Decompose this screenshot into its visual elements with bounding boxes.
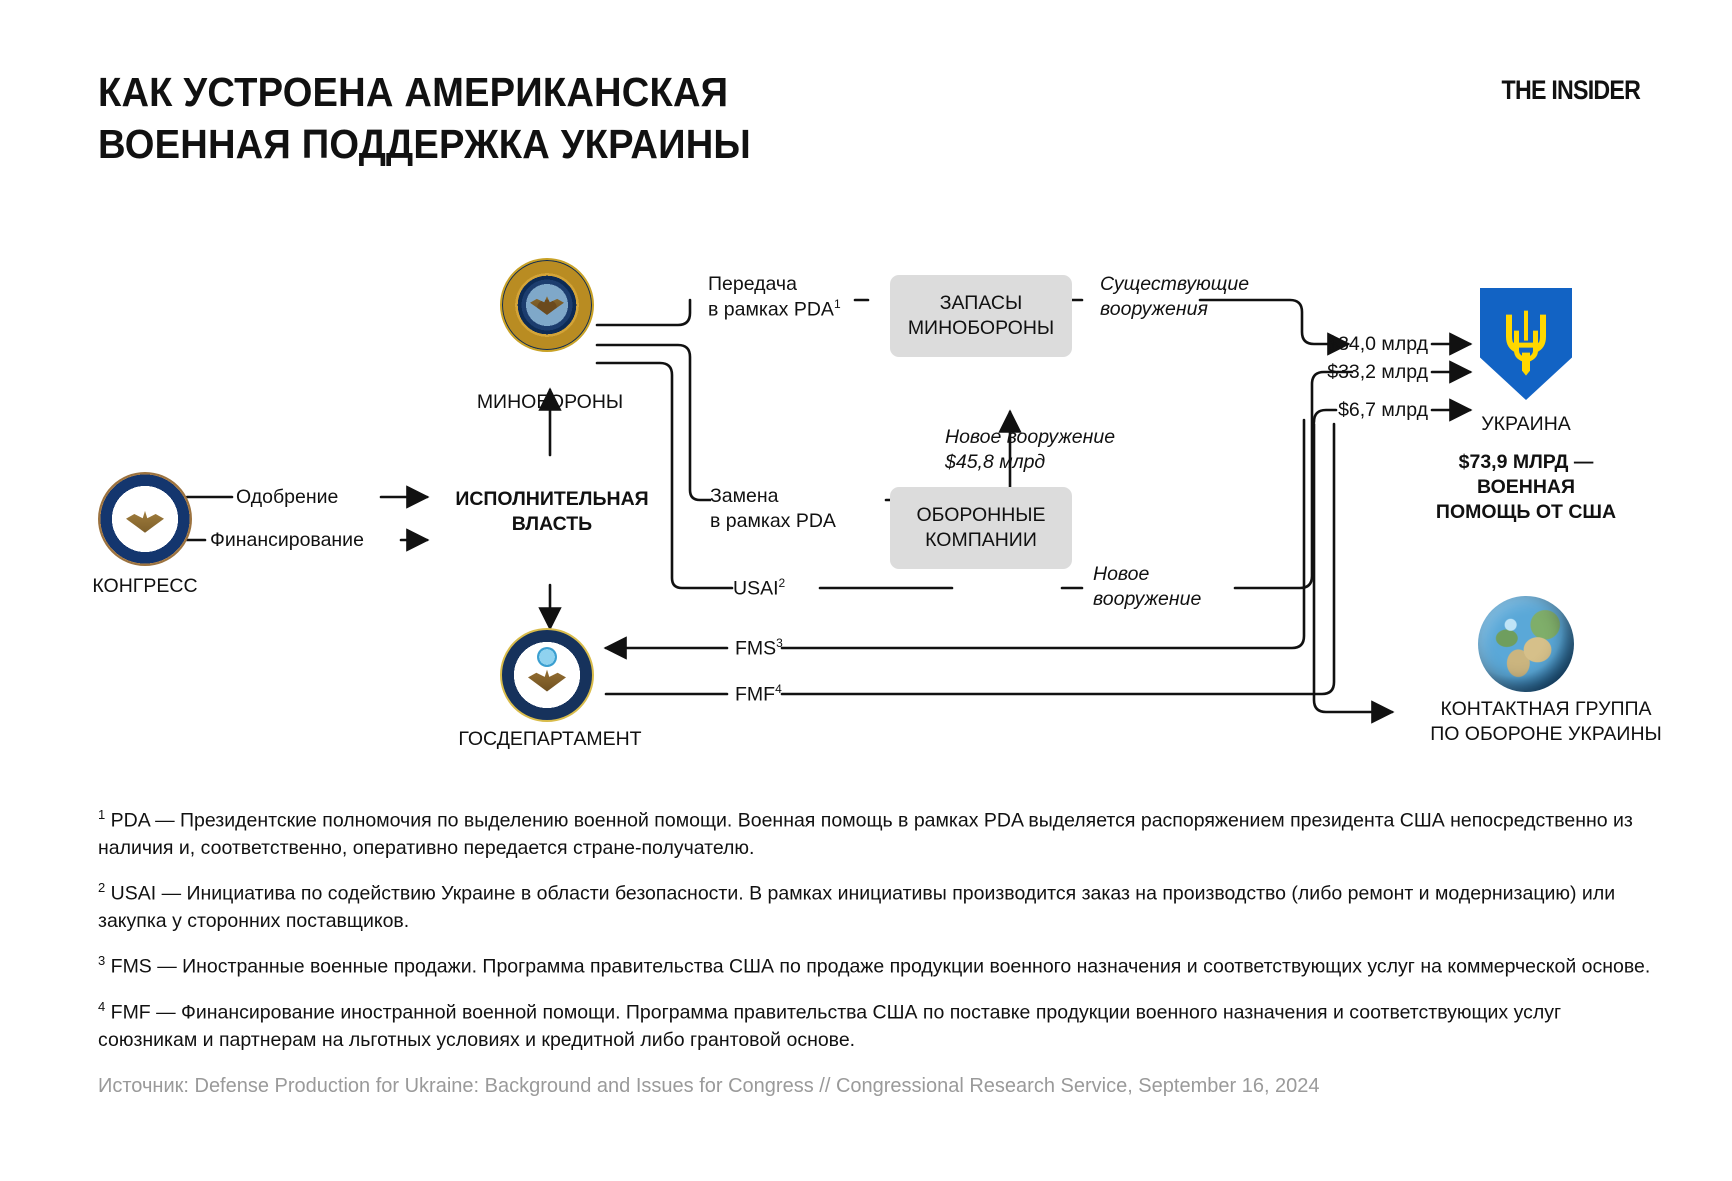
ukraine-total-aid: $73,9 МЛРД — ВОЕННАЯ ПОМОЩЬ ОТ США [1396, 450, 1656, 525]
edge-label-new-weapons-value: Новое вооружение $45,8 млрд [945, 425, 1115, 475]
edge-label-existing-weapons: Существующие вооружения [1100, 272, 1249, 322]
edge-label-fmf-text: FMF [735, 684, 775, 706]
edge-label-fms: FMS3 [735, 636, 783, 661]
node-stockpiles-box: ЗАПАСЫ МИНОБОРОНЫ [890, 275, 1072, 357]
ukraine-coat-of-arms-icon [1480, 288, 1572, 400]
node-label-contact-group: КОНТАКТНАЯ ГРУППА ПО ОБОРОНЕ УКРАИНЫ [1396, 697, 1696, 747]
node-executive-power: ИСПОЛНИТЕЛЬНАЯ ВЛАСТЬ [432, 487, 672, 537]
amount-label-1: $34,0 млрд [1212, 332, 1428, 357]
edge-label-fms-text: FMS [735, 638, 776, 660]
footnote-4-text: FMF — Финансирование иностранной военной… [98, 1001, 1561, 1050]
edge-label-fmf-sup: 4 [775, 682, 782, 696]
edge-label-pda-transfer-text: Передача в рамках PDA [708, 273, 834, 320]
flow-diagram: МИНОБОРОНЫ КОНГРЕСС ГОСДЕПАРТАМЕНТ ИСПОЛ… [0, 0, 1732, 790]
node-label-ukraine: УКРАИНА [1406, 412, 1646, 437]
node-defense-companies-box: ОБОРОННЫЕ КОМПАНИИ [890, 487, 1072, 569]
edge-label-funding: Финансирование [210, 528, 364, 553]
footnote-3: 3 FMS — Иностранные военные продажи. Про… [98, 952, 1658, 981]
footnotes: 1 PDA — Президентские полномочия по выде… [98, 806, 1658, 1071]
node-label-dod: МИНОБОРОНЫ [420, 390, 680, 415]
connector-lines [0, 0, 1732, 790]
amount-label-2: $33,2 млрд [1212, 360, 1428, 385]
footnote-3-text: FMS — Иностранные военные продажи. Прогр… [105, 956, 1650, 978]
edge-label-pda-transfer-sup: 1 [834, 297, 841, 311]
edge-label-usai-text: USAI [733, 578, 779, 600]
amount-label-3: $6,7 млрд [1212, 398, 1428, 423]
footnote-1: 1 PDA — Президентские полномочия по выде… [98, 806, 1658, 862]
edge-label-pda-transfer: Передача в рамках PDA1 [708, 272, 841, 322]
edge-label-pda-replacement: Замена в рамках PDA [710, 484, 836, 534]
footnote-4: 4 FMF — Финансирование иностранной военн… [98, 998, 1658, 1054]
tryzub-glyph [1500, 309, 1552, 377]
edge-label-usai: USAI2 [733, 576, 785, 601]
edge-label-fms-sup: 3 [776, 636, 783, 650]
department-of-defense-seal-icon [500, 258, 594, 352]
footnote-2-text: USAI — Инициатива по содействию Украине … [98, 883, 1615, 932]
edge-label-fmf: FMF4 [735, 682, 782, 707]
globe-icon [1478, 596, 1574, 692]
footnote-2: 2 USAI — Инициатива по содействию Украин… [98, 879, 1658, 935]
node-label-state: ГОСДЕПАРТАМЕНТ [415, 727, 685, 752]
edge-label-usai-sup: 2 [779, 576, 786, 590]
edge-label-new-weapons: Новое вооружение [1093, 562, 1201, 612]
node-label-congress: КОНГРЕСС [55, 574, 235, 599]
department-of-state-seal-icon [500, 628, 594, 722]
us-congress-seal-icon [98, 472, 192, 566]
footnote-1-text: PDA — Президентские полномочия по выделе… [98, 810, 1633, 859]
source-line: Источник: Defense Production for Ukraine… [98, 1075, 1320, 1098]
edge-label-approval: Одобрение [236, 485, 338, 510]
